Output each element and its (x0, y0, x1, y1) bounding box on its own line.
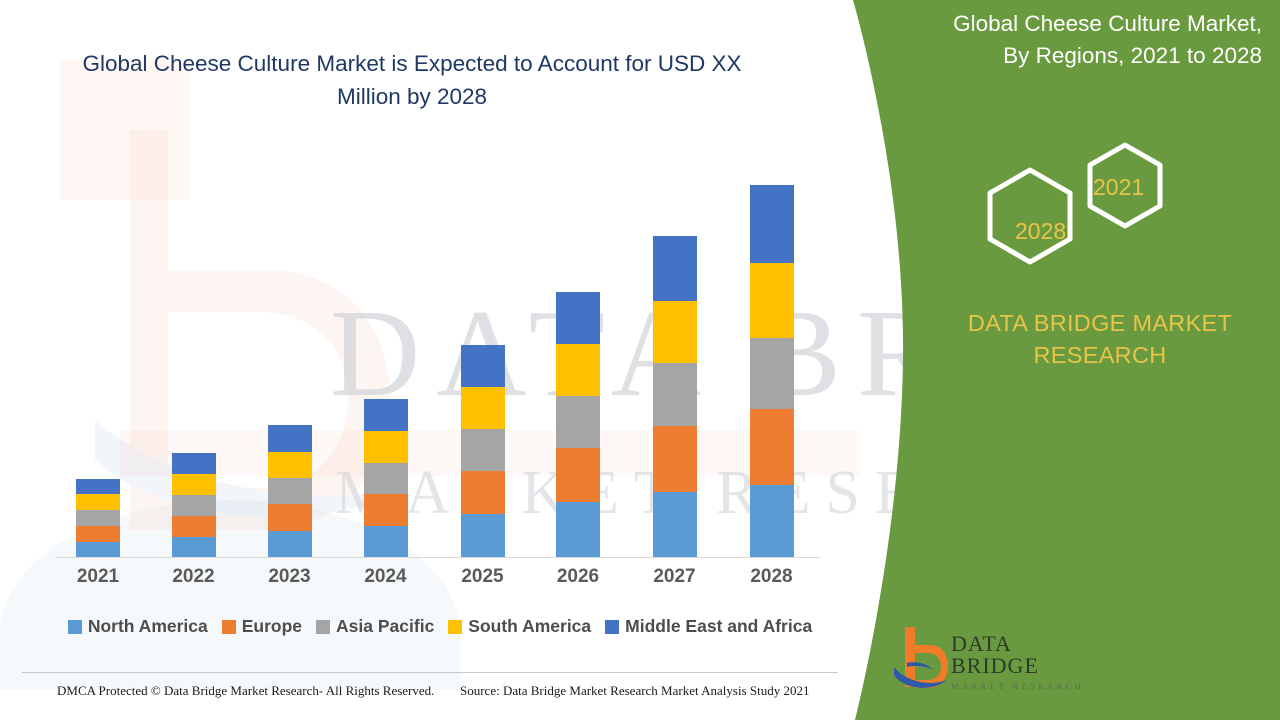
legend-label: Middle East and Africa (625, 616, 812, 637)
bar-segment (556, 502, 600, 558)
logo-subtitle: MARKET RESEARCH (951, 682, 1101, 691)
bar-segment (653, 363, 697, 426)
x-axis-label-2022: 2022 (149, 566, 239, 588)
legend-item[interactable]: Europe (222, 616, 302, 637)
legend-swatch-icon (222, 620, 236, 634)
company-logo: DATA BRIDGE MARKET RESEARCH (893, 625, 1103, 697)
brand-name-line1: DATA BRIDGE MARKET (968, 310, 1232, 336)
bar-2021[interactable] (76, 479, 120, 558)
page-title-line1: Global Cheese Culture Market is Expected… (82, 51, 705, 76)
legend-swatch-icon (448, 620, 462, 634)
bar-segment (653, 426, 697, 492)
x-axis-label-2027: 2027 (630, 566, 720, 588)
footer-copyright: DMCA Protected © Data Bridge Market Rese… (57, 683, 434, 699)
bar-segment (172, 453, 216, 474)
bar-segment (653, 301, 697, 363)
bar-segment (76, 526, 120, 542)
x-axis-label-2028: 2028 (727, 566, 817, 588)
bar-segment (76, 510, 120, 526)
bar-segment (172, 537, 216, 558)
hexagon-year-group: 2021 2028 (985, 140, 1185, 285)
bar-segment (172, 474, 216, 495)
bar-2025[interactable] (461, 345, 505, 558)
bar-segment (172, 516, 216, 537)
legend-item[interactable]: Middle East and Africa (605, 616, 812, 637)
bar-segment (364, 494, 408, 526)
bar-segment (556, 344, 600, 396)
page-title: Global Cheese Culture Market is Expected… (62, 48, 762, 113)
hexagon-year-end: 2028 (1015, 218, 1066, 245)
footer-source: Source: Data Bridge Market Research Mark… (460, 683, 809, 699)
x-axis-label-2023: 2023 (245, 566, 335, 588)
bar-segment (268, 425, 312, 452)
data-bridge-b-mark-icon (893, 625, 949, 691)
bar-2024[interactable] (364, 399, 408, 558)
chart-x-axis-labels: 20212022202320242025202620272028 (55, 566, 820, 596)
bar-segment (556, 292, 600, 344)
bar-segment (556, 448, 600, 502)
panel-title-line2: By Regions, 2021 to 2028 (1003, 43, 1262, 68)
logo-text-block: DATA BRIDGE MARKET RESEARCH (951, 633, 1101, 691)
bar-segment (268, 452, 312, 478)
bar-2022[interactable] (172, 453, 216, 558)
bar-segment (268, 504, 312, 531)
legend-label: Europe (242, 616, 302, 637)
bar-segment (750, 338, 794, 409)
footer-divider (22, 672, 838, 673)
bar-segment (653, 236, 697, 301)
legend-item[interactable]: Asia Pacific (316, 616, 434, 637)
bar-2028[interactable] (750, 185, 794, 558)
chart-x-axis-line (55, 557, 820, 558)
bar-2026[interactable] (556, 292, 600, 558)
panel-title-line1: Global Cheese Culture Market, (953, 11, 1262, 36)
bar-segment (750, 409, 794, 485)
bar-segment (750, 263, 794, 338)
bar-2027[interactable] (653, 236, 697, 558)
legend-label: South America (468, 616, 591, 637)
x-axis-label-2021: 2021 (53, 566, 143, 588)
bar-segment (364, 431, 408, 463)
bar-segment (750, 485, 794, 558)
bar-segment (461, 345, 505, 387)
brand-name: DATA BRIDGE MARKET RESEARCH (940, 308, 1260, 371)
bar-segment (461, 387, 505, 429)
bar-2023[interactable] (268, 425, 312, 558)
panel-title: Global Cheese Culture Market, By Regions… (900, 8, 1262, 72)
legend-label: North America (88, 616, 208, 637)
hexagon-year-start: 2021 (1093, 174, 1144, 201)
legend-swatch-icon (68, 620, 82, 634)
bar-segment (76, 542, 120, 558)
bar-segment (76, 494, 120, 510)
legend-item[interactable]: South America (448, 616, 591, 637)
bar-segment (268, 531, 312, 558)
bar-segment (172, 495, 216, 516)
bar-segment (364, 526, 408, 558)
legend-swatch-icon (316, 620, 330, 634)
bar-segment (364, 399, 408, 431)
x-axis-label-2026: 2026 (533, 566, 623, 588)
chart-legend: North AmericaEuropeAsia PacificSouth Ame… (55, 616, 825, 637)
brand-name-line2: RESEARCH (1034, 342, 1167, 368)
bar-segment (364, 463, 408, 494)
legend-label: Asia Pacific (336, 616, 434, 637)
x-axis-label-2025: 2025 (438, 566, 528, 588)
bar-segment (268, 478, 312, 504)
x-axis-label-2024: 2024 (341, 566, 431, 588)
infographic-page: DATA BRIDGE MARKET RESEARCH Global Chees… (0, 0, 1280, 720)
bar-segment (76, 479, 120, 494)
chart-plot-area (55, 160, 820, 558)
logo-title: DATA BRIDGE (951, 633, 1101, 677)
bar-segment (461, 471, 505, 514)
legend-swatch-icon (605, 620, 619, 634)
hexagon-outlines-icon (985, 140, 1185, 285)
legend-item[interactable]: North America (68, 616, 208, 637)
bar-segment (750, 185, 794, 263)
bar-segment (461, 429, 505, 471)
bar-segment (653, 492, 697, 558)
bar-segment (461, 514, 505, 558)
bar-segment (556, 396, 600, 448)
